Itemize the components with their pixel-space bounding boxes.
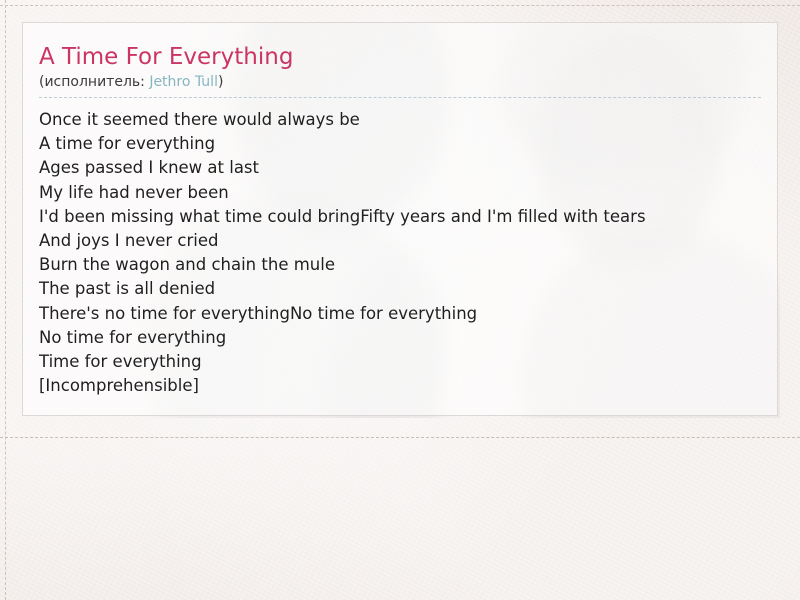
artist-link[interactable]: Jethro Tull [149,74,218,90]
lyric-line: There's no time for everythingNo time fo… [39,302,761,326]
artist-credit: (исполнитель: Jethro Tull) [39,72,761,98]
lyric-line: Burn the wagon and chain the mule [39,253,761,277]
lyric-line: [Incomprehensible] [39,374,761,398]
lyrics-body: Once it seemed there would always be A t… [39,98,761,398]
lyrics-card: A Time For Everything (исполнитель: Jeth… [22,22,778,416]
lyric-line: My life had never been [39,181,761,205]
artist-prefix-label: (исполнитель: [39,74,149,90]
page-title: A Time For Everything [39,43,761,71]
lyric-line: A time for everything [39,132,761,156]
lyric-line: The past is all denied [39,277,761,301]
lyric-line: Ages passed I knew at last [39,156,761,180]
lyric-line: Time for everything [39,350,761,374]
lyrics-card-inner: A Time For Everything (исполнитель: Jeth… [23,23,777,398]
lyric-line: Once it seemed there would always be [39,108,761,132]
lyric-line: I'd been missing what time could bringFi… [39,205,761,229]
artist-suffix-label: ) [218,74,223,90]
lyric-line: No time for everything [39,326,761,350]
lyric-line: And joys I never cried [39,229,761,253]
